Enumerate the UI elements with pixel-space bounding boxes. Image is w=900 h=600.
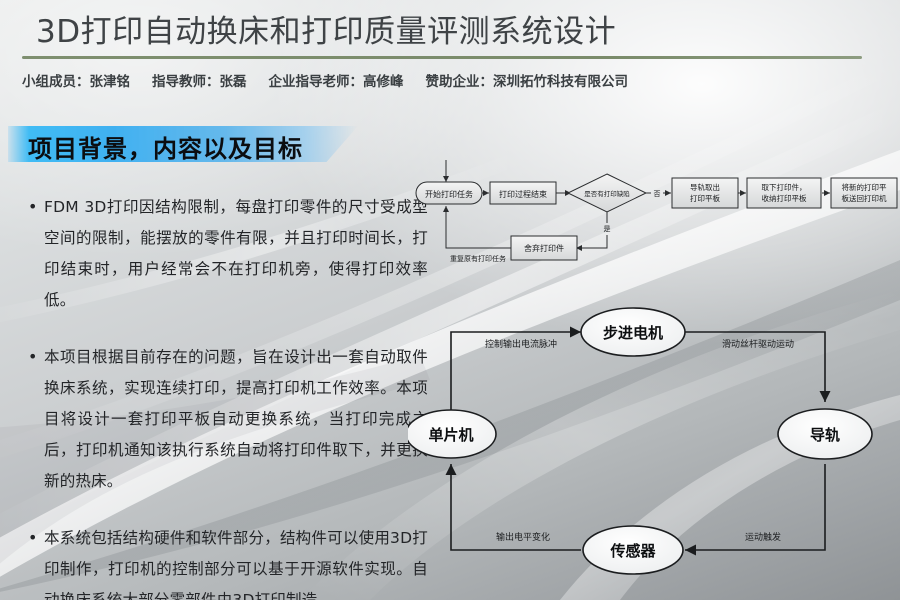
list-item: • 本系统包括结构硬件和软件部分，结构件可以使用3D打印制作，打印机的控制部分可…	[28, 523, 428, 600]
title-divider	[22, 56, 862, 59]
flow-node-rail-takeout-label1: 导轨取出	[690, 182, 720, 192]
block-node-stepper-label: 步进电机	[603, 324, 663, 342]
flow-node-start-label: 开始打印任务	[425, 189, 473, 199]
flow-node-start: 开始打印任务	[416, 182, 482, 204]
block-edge-label-stepper-to-rail: 滑动丝杆驱动运动	[722, 338, 794, 350]
list-item: • 本项目根据目前存在的问题，旨在设计出一套自动取件换床系统，实现连续打印，提高…	[28, 342, 428, 497]
block-edge-label-mcu-to-stepper: 控制输出电流脉冲	[485, 338, 557, 350]
flow-node-remove-part-label2: 收纳打印平板	[762, 193, 807, 203]
flow-edge-label-yes: 是	[604, 225, 611, 233]
section-heading: 项目背景，内容以及目标	[8, 126, 358, 162]
block-node-rail-label: 导轨	[810, 426, 840, 444]
flow-edge-label-no: 否	[654, 190, 661, 198]
flow-node-remove-part-label1: 取下打印件，	[762, 182, 807, 192]
bullet-text: 本项目根据目前存在的问题，旨在设计出一套自动取件换床系统，实现连续打印，提高打印…	[44, 342, 428, 497]
flow-edge-label-repeat: 重复原有打印任务	[450, 254, 506, 263]
credit-sponsor: 赞助企业：深圳拓竹科技有限公司	[426, 74, 629, 90]
list-item: • FDM 3D打印因结构限制，每盘打印零件的尺寸受成型空间的限制，能摆放的零件…	[28, 192, 428, 316]
slide-canvas: 3D打印自动换床和打印质量评测系统设计 小组成员：张津铭指导教师：张磊企业指导老…	[0, 0, 900, 600]
system-block-diagram: 控制输出电流脉冲 滑动丝杆驱动运动 运动触发 输出电平变化 步进电机 导轨 单片…	[408, 292, 900, 592]
flow-node-rail-takeout-label2: 打印平板	[690, 193, 720, 203]
block-node-sensor-label: 传感器	[609, 542, 656, 560]
block-node-stepper: 步进电机	[581, 308, 685, 356]
bullet-list: • FDM 3D打印因结构限制，每盘打印零件的尺寸受成型空间的限制，能摆放的零件…	[28, 192, 428, 600]
block-node-mcu: 单片机	[408, 410, 496, 458]
flow-node-decision: 是否有打印缺陷	[568, 174, 646, 212]
bullet-marker-icon: •	[28, 192, 44, 316]
bullet-marker-icon: •	[28, 342, 44, 497]
credit-member: 小组成员：张津铭	[22, 74, 130, 90]
flow-node-decision-label: 是否有打印缺陷	[584, 189, 630, 198]
block-node-rail: 导轨	[778, 409, 872, 459]
block-edge-label-rail-to-sensor: 运动触发	[745, 531, 781, 543]
flow-node-send-back: 将新的打印平 板送回打印机	[831, 178, 897, 208]
credit-advisor: 指导教师：张磊	[152, 74, 247, 90]
block-edge-label-sensor-to-mcu: 输出电平变化	[496, 531, 550, 543]
flow-node-discard: 舍弃打印件	[511, 236, 577, 260]
bullet-text: 本系统包括结构硬件和软件部分，结构件可以使用3D打印制作，打印机的控制部分可以基…	[44, 523, 428, 600]
flow-node-send-back-label1: 将新的打印平	[842, 182, 887, 192]
flow-node-print-end-label: 打印过程结束	[499, 189, 547, 199]
bullet-marker-icon: •	[28, 523, 44, 600]
flow-node-remove-part: 取下打印件， 收纳打印平板	[747, 178, 821, 208]
flow-node-discard-label: 舍弃打印件	[524, 243, 564, 253]
credits-line: 小组成员：张津铭指导教师：张磊企业指导老师：高修峰赞助企业：深圳拓竹科技有限公司	[22, 70, 882, 90]
credit-industry-mentor: 企业指导老师：高修峰	[269, 74, 404, 90]
page-title: 3D打印自动换床和打印质量评测系统设计	[36, 12, 856, 52]
flow-node-send-back-label2: 板送回打印机	[842, 193, 887, 203]
bullet-text: FDM 3D打印因结构限制，每盘打印零件的尺寸受成型空间的限制，能摆放的零件有限…	[44, 192, 428, 316]
flow-node-rail-takeout: 导轨取出 打印平板	[672, 178, 738, 208]
flow-node-print-end: 打印过程结束	[490, 182, 556, 204]
block-node-sensor: 传感器	[583, 526, 683, 574]
process-flowchart: 开始打印任务 打印过程结束 是否有打印缺陷 否 是 导轨取出 打印平板	[408, 160, 900, 280]
section-heading-text: 项目背景，内容以及目标	[28, 129, 303, 164]
block-node-mcu-label: 单片机	[428, 426, 473, 444]
